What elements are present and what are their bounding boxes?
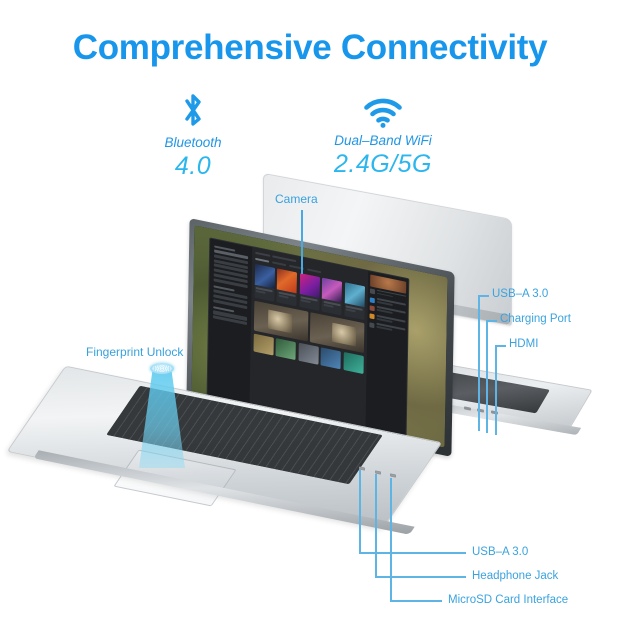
media-card (344, 282, 365, 320)
leader-line-headphone-h (375, 576, 466, 578)
bluetooth-icon (103, 88, 283, 130)
feature-bluetooth: Bluetooth 4.0 (103, 88, 283, 181)
callout-microsd-card-interface: MicroSD Card Interface (448, 594, 568, 606)
callout-camera: Camera (275, 192, 318, 206)
callout-charging-port: Charging Port (500, 313, 571, 325)
media-card (322, 277, 343, 315)
leader-line-microsd-v (390, 478, 392, 601)
feature-wifi: Dual–Band WiFi 2.4G/5G (293, 86, 473, 179)
leader-line-headphone-v (375, 474, 377, 577)
app-sidebar (208, 238, 252, 403)
fingerprint-icon (150, 363, 174, 374)
leader-line-hdmi (495, 345, 497, 435)
infographic-canvas: Comprehensive Connectivity Bluetooth 4.0… (0, 0, 620, 620)
leader-line-usb-a-right (478, 295, 480, 431)
leader-line-microsd-h (390, 600, 442, 602)
callout-hdmi: HDMI (509, 338, 538, 350)
media-card (299, 273, 320, 311)
leader-line-charging-port (486, 320, 488, 433)
callout-headphone-jack: Headphone Jack (472, 570, 558, 582)
app-friends-panel (366, 271, 408, 436)
leader-line-camera (301, 210, 303, 274)
page-title: Comprehensive Connectivity (0, 28, 620, 68)
callout-usb-a-bottom: USB–A 3.0 (472, 546, 528, 558)
wifi-label: Dual–Band WiFi (293, 133, 473, 148)
app-content-area (249, 247, 368, 428)
wifi-icon (293, 86, 473, 128)
bluetooth-version: 4.0 (103, 152, 283, 181)
bluetooth-label: Bluetooth (103, 135, 283, 150)
media-card (277, 268, 298, 306)
media-card (254, 263, 275, 301)
wifi-bands: 2.4G/5G (293, 150, 473, 179)
front-laptop (28, 245, 458, 535)
callout-fingerprint-unlock: Fingerprint Unlock (86, 345, 183, 359)
callout-usb-a-right: USB–A 3.0 (492, 288, 548, 300)
leader-line-usb-a-bottom-v (359, 470, 361, 553)
